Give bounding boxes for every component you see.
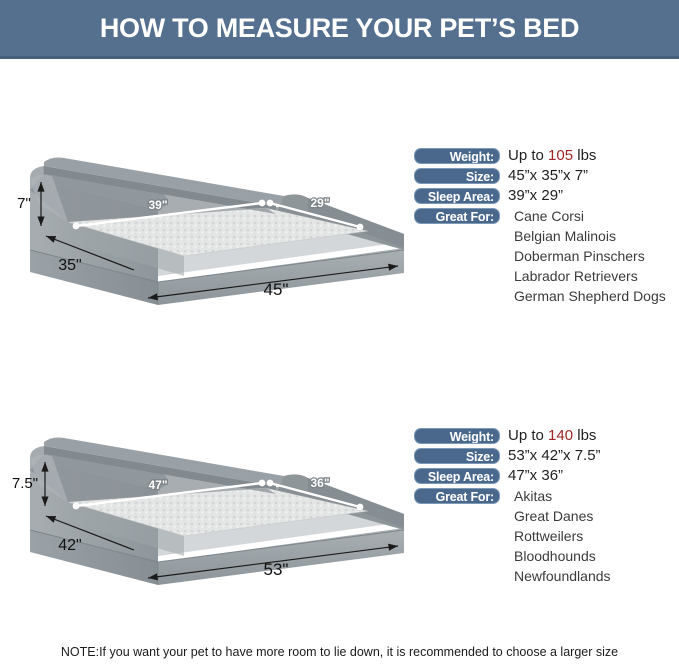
spec-value-sleep-area: 47”x 36”	[508, 466, 563, 486]
bed-illustration-svg: 47" 36" 7.5" 42" 53"	[8, 410, 412, 600]
weight-prefix: Up to	[508, 427, 548, 444]
product-block-xlarge: 47" 36" 7.5" 42" 53" Weight: Up to 140 l…	[0, 410, 679, 610]
product-block-large: 39" 29" 7" 35" 45" Weight: Up to 105 lbs…	[0, 130, 679, 330]
bed-body	[30, 158, 404, 306]
breed-list-xlarge: Akitas Great Danes Rottweilers Bloodhoun…	[514, 486, 674, 586]
spec-row-weight: Weight: Up to 105 lbs	[414, 146, 674, 166]
sleep-length-label: 39"	[148, 198, 167, 212]
breed-item: Bloodhounds	[514, 546, 674, 566]
spec-value-size: 53”x 42”x 7.5”	[508, 446, 601, 466]
breed-list-large: Cane Corsi Belgian Malinois Doberman Pin…	[514, 206, 674, 306]
sleep-length-label: 47"	[148, 478, 167, 492]
dim-endpoint	[267, 480, 274, 487]
spec-label-weight: Weight:	[414, 428, 500, 444]
spec-row-size: Size: 53”x 42”x 7.5”	[414, 446, 674, 466]
breed-item: Great Danes	[514, 506, 674, 526]
dim-endpoint	[73, 503, 80, 510]
breed-item: Belgian Malinois	[514, 226, 674, 246]
dim-endpoint	[357, 504, 364, 511]
weight-highlight: 140	[548, 427, 573, 444]
spec-panel-xlarge: Weight: Up to 140 lbs Size: 53”x 42”x 7.…	[414, 426, 674, 586]
bed-depth-label: 35"	[58, 257, 81, 274]
spec-label-size: Size:	[414, 168, 500, 184]
bed-depth-label: 42"	[58, 537, 81, 554]
page-header-banner: HOW TO MEASURE YOUR PET’S BED	[0, 0, 679, 59]
spec-row-weight: Weight: Up to 140 lbs	[414, 426, 674, 446]
breed-item: Cane Corsi	[514, 206, 674, 226]
spec-label-great-for: Great For:	[414, 488, 500, 504]
footer-note: NOTE:If you want your pet to have more r…	[0, 645, 679, 659]
bed-diagram-xlarge: 47" 36" 7.5" 42" 53"	[8, 410, 412, 600]
weight-suffix: lbs	[573, 147, 596, 164]
bed-width-label: 53"	[264, 560, 289, 579]
bed-height-label: 7"	[17, 195, 31, 212]
sleep-width-label: 36"	[310, 476, 329, 490]
sleep-width-label: 29"	[310, 196, 329, 210]
dim-endpoint	[357, 224, 364, 231]
bed-illustration-svg: 39" 29" 7" 35" 45"	[8, 130, 412, 320]
spec-value-weight: Up to 105 lbs	[508, 146, 596, 166]
spec-value-sleep-area: 39”x 29”	[508, 186, 563, 206]
spec-label-great-for: Great For:	[414, 208, 500, 224]
spec-label-weight: Weight:	[414, 148, 500, 164]
breed-item: Akitas	[514, 486, 674, 506]
spec-label-sleep-area: Sleep Area:	[414, 468, 500, 484]
weight-suffix: lbs	[573, 427, 596, 444]
spec-row-size: Size: 45”x 35”x 7”	[414, 166, 674, 186]
spec-panel-large: Weight: Up to 105 lbs Size: 45”x 35”x 7”…	[414, 146, 674, 306]
spec-row-sleep-area: Sleep Area: 47”x 36”	[414, 466, 674, 486]
breed-item: German Shepherd Dogs	[514, 286, 674, 306]
spec-value-weight: Up to 140 lbs	[508, 426, 596, 446]
breed-item: Newfoundlands	[514, 566, 674, 586]
breed-item: Rottweilers	[514, 526, 674, 546]
spec-row-sleep-area: Sleep Area: 39”x 29”	[414, 186, 674, 206]
bed-height-label: 7.5"	[12, 475, 38, 492]
breed-item: Doberman Pinschers	[514, 246, 674, 266]
spec-label-size: Size:	[414, 448, 500, 464]
weight-highlight: 105	[548, 147, 573, 164]
dim-endpoint	[259, 200, 266, 207]
spec-label-sleep-area: Sleep Area:	[414, 188, 500, 204]
breed-item: Labrador Retrievers	[514, 266, 674, 286]
bed-body	[30, 438, 404, 586]
dim-endpoint	[73, 223, 80, 230]
weight-prefix: Up to	[508, 147, 548, 164]
bed-diagram-large: 39" 29" 7" 35" 45"	[8, 130, 412, 320]
spec-value-size: 45”x 35”x 7”	[508, 166, 588, 186]
bed-width-label: 45"	[264, 280, 289, 299]
page-title: HOW TO MEASURE YOUR PET’S BED	[100, 13, 579, 44]
dim-endpoint	[267, 200, 274, 207]
dim-endpoint	[259, 480, 266, 487]
